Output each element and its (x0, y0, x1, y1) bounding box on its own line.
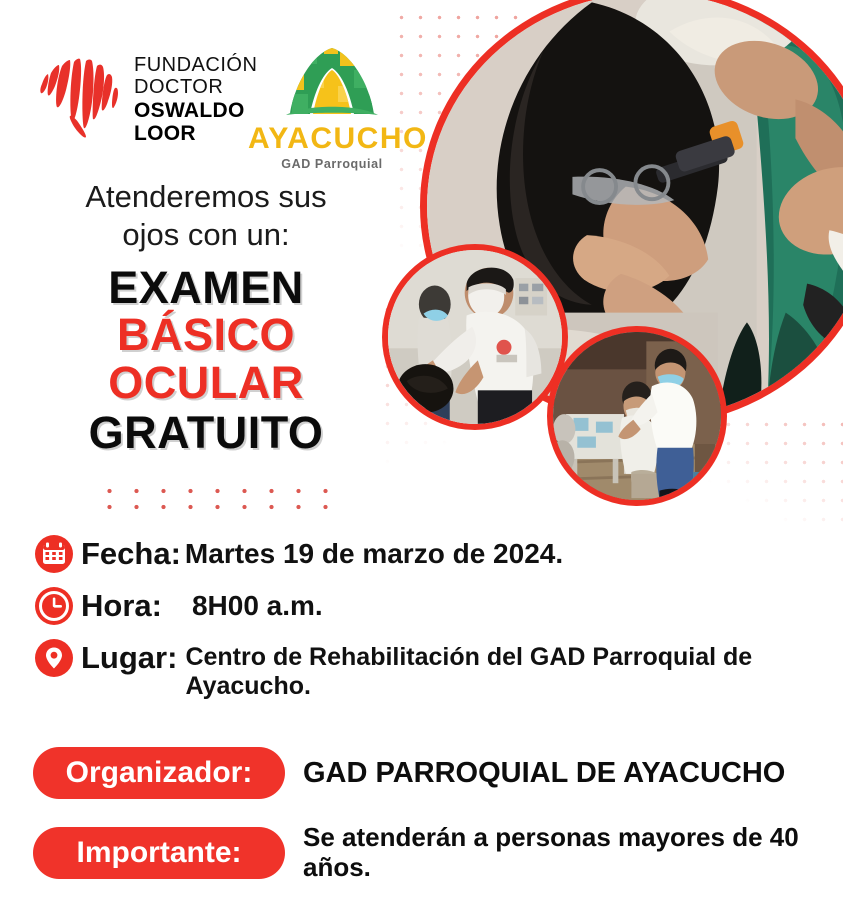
detail-label-fecha: Fecha: (81, 534, 181, 574)
photo-collage (380, 0, 843, 531)
headline-lead-line-1: Atenderemos sus (26, 178, 386, 216)
detail-label-lugar: Lugar: (81, 638, 177, 678)
dot-pattern-divider (96, 483, 341, 515)
detail-value-fecha: Martes 19 de marzo de 2024. (185, 534, 563, 574)
foundation-logo-block: FUNDACIÓN DOCTOR OSWALDO LOOR (30, 48, 257, 146)
important-value: Se atenderán a personas mayores de 40 añ… (303, 823, 843, 882)
foundation-line-4: LOOR (134, 122, 257, 146)
foundation-line-2: DOCTOR (134, 76, 257, 98)
detail-label-hora: Hora: (81, 586, 162, 626)
headline-block: Atenderemos sus ojos con un: EXAMEN BÁSI… (26, 178, 386, 456)
callout-important: Importante: Se atenderán a personas mayo… (33, 823, 843, 882)
headline-word-ocular: OCULAR (26, 359, 386, 407)
striped-heart-icon (30, 48, 122, 144)
headline-word-gratuito: GRATUITO (26, 409, 386, 457)
clock-icon (34, 586, 74, 626)
callout-organizer: Organizador: GAD PARROQUIAL DE AYACUCHO (33, 747, 785, 799)
flyer-canvas: FUNDACIÓN DOCTOR OSWALDO LOOR (0, 0, 843, 918)
event-details: Fecha: Martes 19 de marzo de 2024. Hora:… (34, 534, 824, 712)
detail-value-lugar: Centro de Rehabilitación del GAD Parroqu… (185, 638, 805, 700)
headline-word-basico: BÁSICO (26, 311, 386, 359)
calendar-icon (34, 534, 74, 574)
detail-row-fecha: Fecha: Martes 19 de marzo de 2024. (34, 534, 824, 574)
location-pin-icon (34, 638, 74, 678)
organizer-value: GAD PARROQUIAL DE AYACUCHO (303, 757, 785, 790)
photo-home-visit (547, 326, 727, 506)
organizer-pill-label: Organizador: (33, 747, 285, 799)
important-pill-label: Importante: (33, 827, 285, 879)
foundation-line-1: FUNDACIÓN (134, 54, 257, 76)
foundation-wordmark: FUNDACIÓN DOCTOR OSWALDO LOOR (134, 48, 257, 146)
detail-value-hora: 8H00 a.m. (192, 586, 323, 626)
detail-row-hora: Hora: 8H00 a.m. (34, 586, 824, 626)
detail-row-lugar: Lugar: Centro de Rehabilitación del GAD … (34, 638, 824, 700)
headline-word-examen: EXAMEN (26, 264, 386, 312)
foundation-line-3: OSWALDO (134, 99, 257, 123)
headline-lead-line-2: ojos con un: (26, 216, 386, 254)
photo-fitting-glasses (382, 244, 568, 430)
